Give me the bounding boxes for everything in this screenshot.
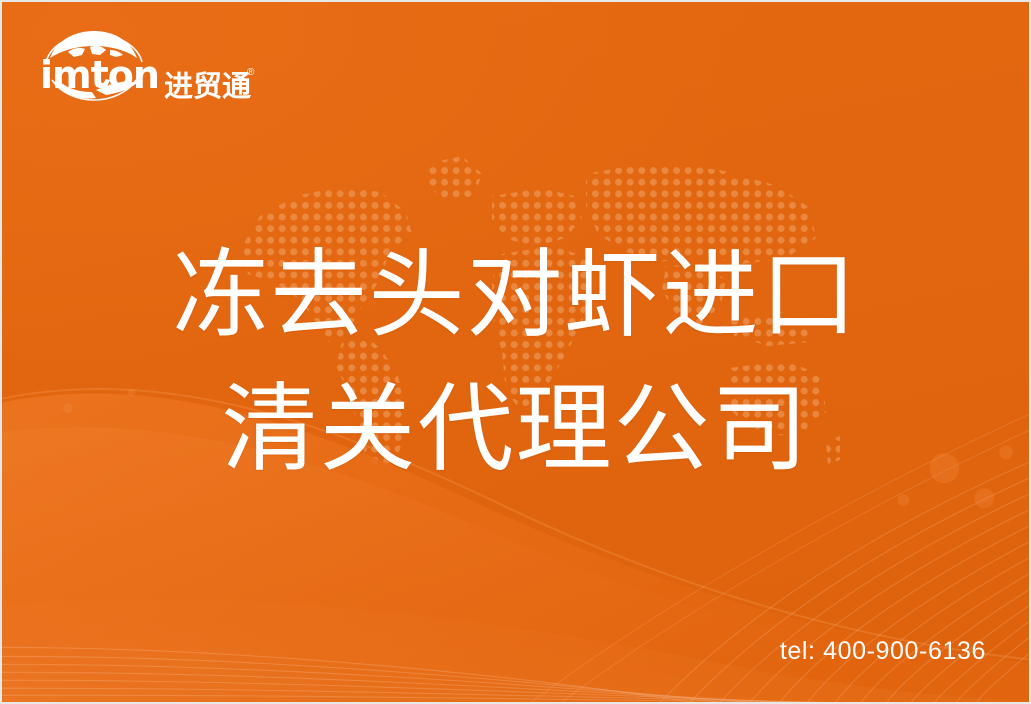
- brand-logo[interactable]: imton 进贸通 ®: [38, 28, 223, 104]
- logo-wordmark-imton: imton: [40, 54, 162, 96]
- page-title: 冻去头对虾进口 清关代理公司: [2, 228, 1029, 496]
- logo-chinese-name: 进贸通: [164, 72, 251, 101]
- poster-banner: imton 进贸通 ® 冻去头对虾进口 清关代理公司 tel: 400-900-…: [0, 0, 1031, 704]
- registered-trademark-icon: ®: [247, 68, 254, 78]
- page-title-line-1: 冻去头对虾进口: [2, 228, 1029, 362]
- contact-phone-number[interactable]: tel: 400-900-6136: [780, 639, 986, 664]
- page-title-line-2: 清关代理公司: [2, 362, 1029, 496]
- svg-text:imton: imton: [40, 54, 159, 96]
